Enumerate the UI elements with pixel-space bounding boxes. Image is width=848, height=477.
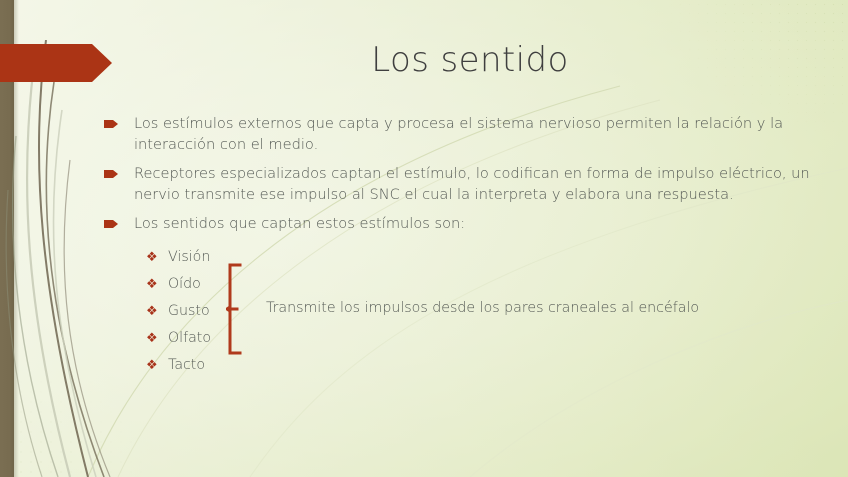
bullet-text: Los sentidos que captan estos estímulos … [134, 214, 820, 235]
diamond-bullet-icon: ❖ [146, 359, 159, 372]
annotation-text: Transmite los impulsos desde los pares c… [266, 300, 699, 316]
bullet-text: Los estímulos externos que capta y proce… [134, 114, 820, 155]
arrow-bullet-icon [104, 170, 118, 178]
arrow-bullet-icon [104, 220, 118, 228]
diamond-bullet-icon: ❖ [146, 332, 159, 345]
left-sidebar-edge [14, 0, 19, 477]
diamond-bullet-icon: ❖ [146, 251, 159, 264]
diamond-bullet-icon: ❖ [146, 278, 159, 291]
bullet-item: Los sentidos que captan estos estímulos … [104, 214, 820, 235]
right-brace-icon [226, 263, 248, 355]
page-title: Los sentido [120, 40, 820, 80]
list-item-label: Tacto [168, 357, 205, 373]
bullet-text: Receptores especializados captan el estí… [134, 164, 820, 205]
slide-body: Los estímulos externos que capta y proce… [104, 114, 820, 379]
list-item-label: Gusto [168, 303, 210, 319]
bullet-item: Receptores especializados captan el estí… [104, 164, 820, 205]
left-sidebar-bar [0, 0, 14, 477]
presentation-slide: Los sentido Los estímulos externos que c… [0, 0, 848, 477]
list-item: ❖ Tacto [146, 352, 820, 379]
list-item-label: Visión [168, 249, 210, 265]
list-item-label: Olfato [168, 330, 211, 346]
list-item-label: Oído [168, 276, 201, 292]
bullet-item: Los estímulos externos que capta y proce… [104, 114, 820, 155]
diamond-bullet-icon: ❖ [146, 305, 159, 318]
arrow-bullet-icon [104, 120, 118, 128]
